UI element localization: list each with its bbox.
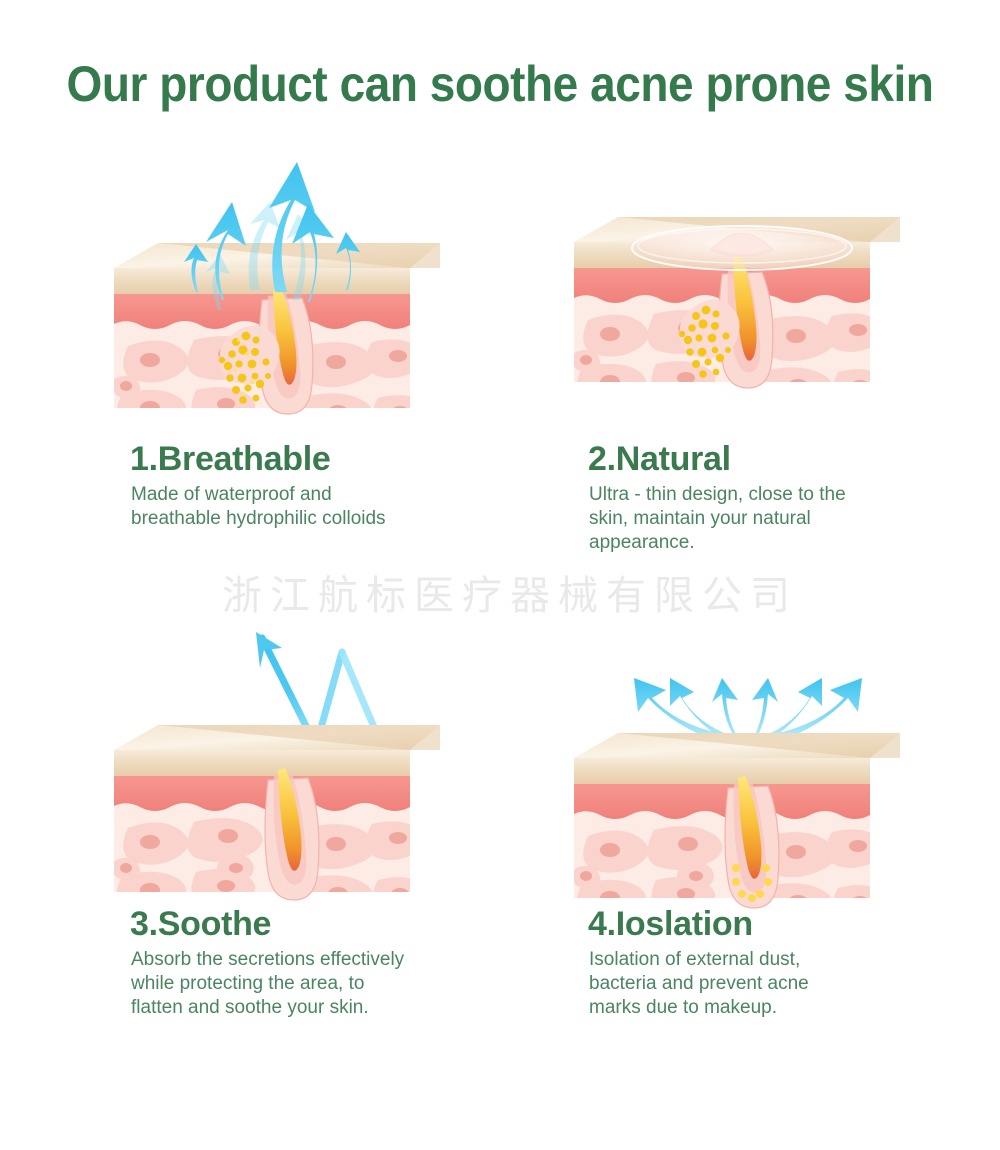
feature-body: Made of waterproof and breathable hydrop… — [131, 483, 396, 531]
feature-heading: 3.Soothe — [130, 905, 570, 944]
page-title: Our product can soothe acne prone skin — [40, 55, 960, 113]
feature-body: Ultra - thin design, close to the skin, … — [589, 483, 859, 555]
epidermis-front — [114, 268, 410, 294]
isolation-arrows — [634, 678, 862, 742]
feature-heading: 2.Natural — [588, 440, 1000, 479]
feature-body: Absorb the secretions effectively while … — [131, 948, 406, 1020]
feature-card-breathable: 1.Breathable Made of waterproof and brea… — [110, 150, 570, 531]
hair-follicle — [725, 776, 779, 908]
ultrathin-patch — [632, 226, 852, 270]
skin-ultrathin-patch-illustration — [570, 150, 900, 440]
skin-isolation-fan-illustration — [570, 630, 900, 905]
feature-card-natural: 2.Natural Ultra - thin design, close to … — [570, 150, 1000, 555]
feature-heading: 1.Breathable — [130, 440, 570, 479]
infographic-page: Our product can soothe acne prone skin 浙… — [0, 0, 1000, 1150]
feature-card-soothe: 3.Soothe Absorb the secretions effective… — [110, 630, 570, 1020]
feature-grid: 1.Breathable Made of waterproof and brea… — [0, 150, 1000, 1110]
feature-card-isolation: 4.Ioslation Isolation of external dust, … — [570, 630, 1000, 1020]
feature-row-1: 1.Breathable Made of waterproof and brea… — [0, 150, 1000, 630]
skin-soothe-reflect-illustration — [110, 630, 440, 905]
epidermis-front — [114, 750, 410, 776]
hair-follicle — [265, 768, 319, 900]
feature-heading: 4.Ioslation — [588, 905, 1000, 944]
skin-breathable-arrows-illustration — [110, 150, 440, 440]
epidermis-front — [574, 758, 870, 784]
feature-body: Isolation of external dust, bacteria and… — [589, 948, 859, 1020]
feature-row-2: 3.Soothe Absorb the secretions effective… — [0, 630, 1000, 1110]
